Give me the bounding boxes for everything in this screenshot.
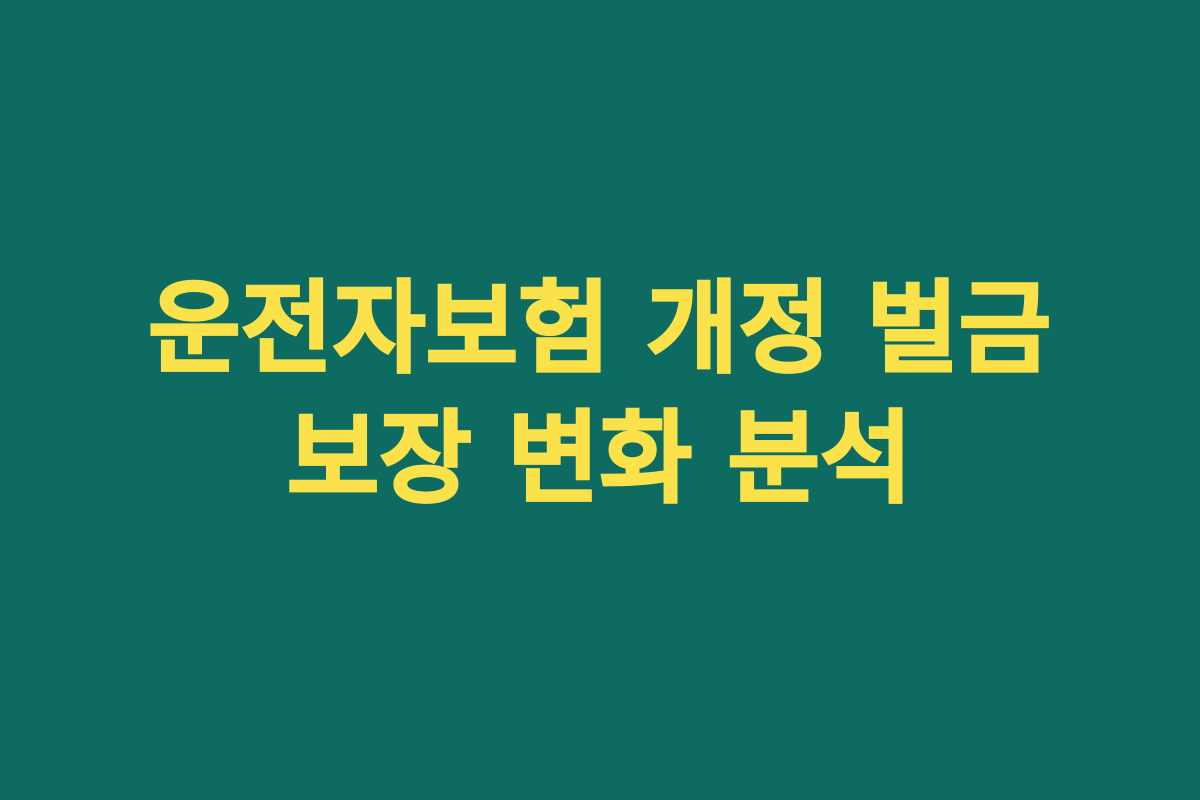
headline-block: 운전자보험 개정 벌금 보장 변화 분석	[82, 264, 1118, 524]
page-title: 운전자보험 개정 벌금 보장 변화 분석	[82, 264, 1118, 524]
thumbnail-canvas: 운전자보험 개정 벌금 보장 변화 분석	[0, 0, 1200, 800]
